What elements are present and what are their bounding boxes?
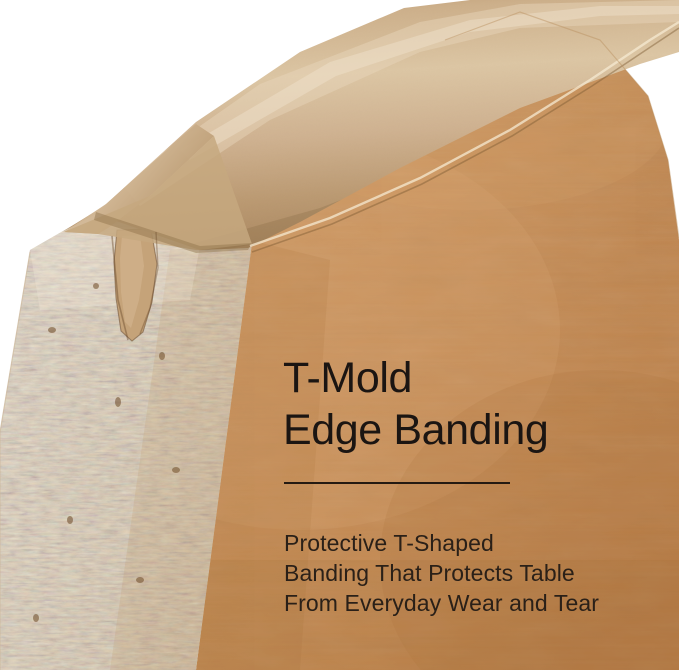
- tmold-edge-banding-photograph: [0, 0, 679, 670]
- product-photo-card: T-MoldEdge Banding Protective T-ShapedBa…: [0, 0, 679, 670]
